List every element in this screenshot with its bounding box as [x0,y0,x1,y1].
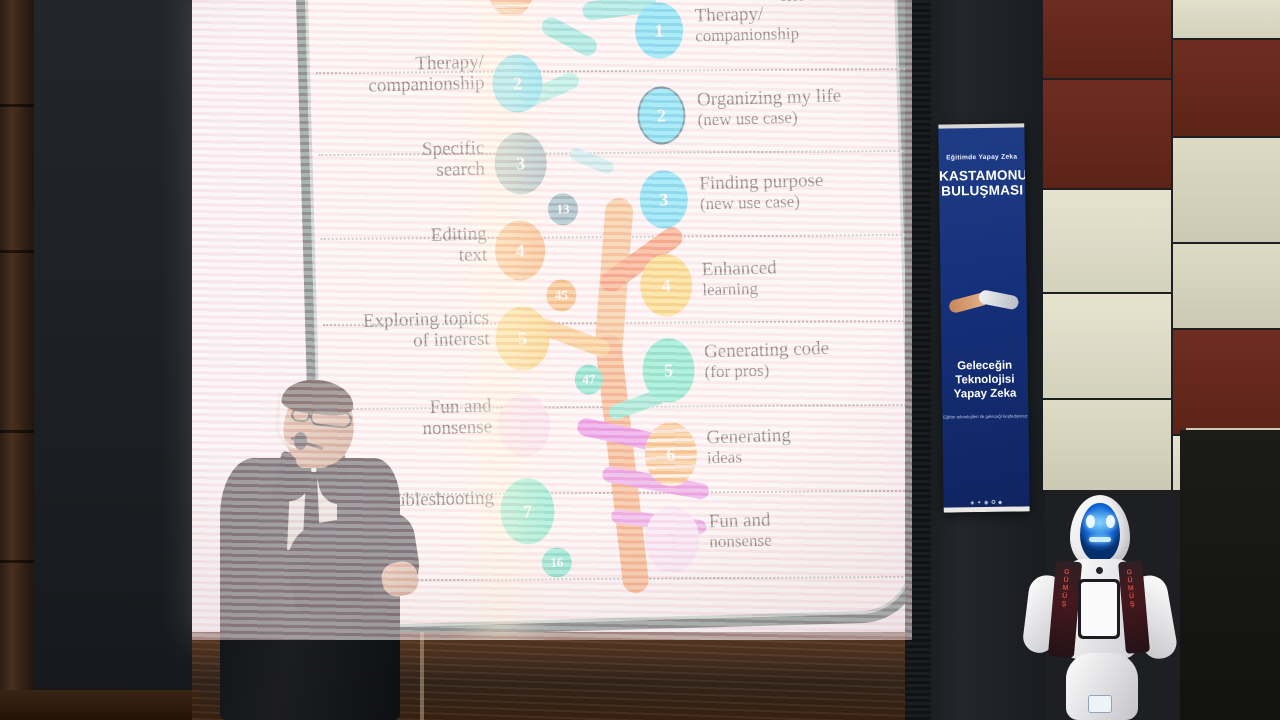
left-rank-bubble-6: 6 [497,394,551,457]
left-wood-base [0,690,200,720]
right-tiled-wall [1043,0,1280,490]
robot-scarf-text-left: GÜMÜŞ [1060,569,1070,609]
right-rank-value-7: 7 [667,529,677,550]
humanoid-robot: GÜMÜŞ GÜMÜŞ [1018,495,1186,720]
left-item-label-4: Editing text [342,223,487,270]
left-rank-value-3: 3 [516,153,526,174]
right-rank-bubble-7: 7 [644,506,700,573]
left-rank-bubble-4: 4 [494,220,546,281]
banner-header-strip [938,123,1024,128]
flow-badge-13: 13 [548,193,579,226]
left-item-label-3: Specific search [332,137,485,184]
right-item-label-4: Enhanced learning [701,255,852,299]
left-item-label-1: Generating ideas [325,0,481,2]
robot-eye-right [1106,515,1115,528]
robot-face-display [1080,503,1120,561]
left-item-label-2: Therapy/ companionship [314,51,485,98]
left-dark-wall [34,0,192,720]
left-rank-value-2: 2 [513,73,523,94]
left-rank-bubble-3: 3 [494,132,548,195]
left-rank-bubble-1: 1 [487,0,535,17]
right-rank-bubble-2: 2 [637,86,687,145]
robot-scarf-text-right: GÜMÜŞ [1126,569,1136,609]
rollup-banner: KASTAMONU VALİLİĞİ MİLLİ EĞİTİM MÜDÜRLÜĞ… [938,123,1029,512]
left-rank-value-7: 7 [523,501,533,522]
flow-badge-45: 45 [546,279,577,312]
robot-eye-left [1086,515,1095,528]
banner-tagline: Geleceğin Teknolojisi Yapay Zeka [942,359,1029,402]
robot-mouth [1089,537,1111,542]
right-rank-bubble-1: 1 [634,2,684,59]
headset-microphone-capsule [294,432,307,450]
banner-kicker: Eğitimde Yapay Zeka [939,153,1025,161]
right-rank-value-4: 4 [661,275,671,296]
flow-badge-16: 16 [541,547,572,578]
left-wood-panel [0,0,34,720]
left-rank-bubble-7: 7 [500,478,556,545]
left-rank-value-5: 5 [518,328,528,349]
flow-ribbon [538,14,600,59]
right-item-label-2: Organizing my life (new use case) [697,85,856,130]
flow-badge-47: 47 [574,364,603,395]
handshake-graphic [949,284,1020,329]
right-item-label-5: Generating code (for pros) [704,337,863,382]
left-item-label-5: Exploring topics of interest [307,307,490,355]
right-item-label-1: Therapy/ companionship [694,1,845,45]
right-rank-value-2: 2 [657,105,667,126]
right-rank-bubble-3: 3 [639,170,689,229]
robot-hand-shape [978,289,1020,311]
right-item-label-3: Finding purpose (new use case) [699,169,858,214]
far-right-dark-column [1180,430,1280,720]
banner-title: KASTAMONU BULUŞMASI [939,167,1025,198]
robot-chest-tablet[interactable] [1078,579,1120,639]
robot-base-badge [1088,695,1112,713]
right-item-label-7: Fun and nonsense [708,507,859,551]
right-rank-bubble-6: 6 [644,422,698,487]
right-rank-value-3: 3 [659,189,669,210]
pillar-grill [905,0,931,720]
banner-sponsor-logos: ◈ ✦ ◉ ✪ ◆ [944,499,1030,506]
right-rank-value-1: 1 [654,20,664,41]
right-rank-bubble-4: 4 [639,254,693,317]
right-rank-value-6: 6 [666,444,676,465]
right-rank-bubble-5: 5 [642,338,696,403]
left-rank-bubble-5: 5 [495,306,551,371]
left-rank-value-6: 6 [519,415,529,436]
right-item-label-6: Generating ideas [706,423,857,467]
right-rank-value-5: 5 [664,360,674,381]
robot-camera-icon [1096,567,1103,574]
screenshot-root: 2024 2025 [0,0,1280,720]
presenter [214,380,430,720]
banner-fine-print: Eğitim teknolojileri ile geleceği keşfed… [942,413,1028,420]
left-rank-value-4: 4 [515,240,525,261]
flow-ribbon [568,146,615,176]
